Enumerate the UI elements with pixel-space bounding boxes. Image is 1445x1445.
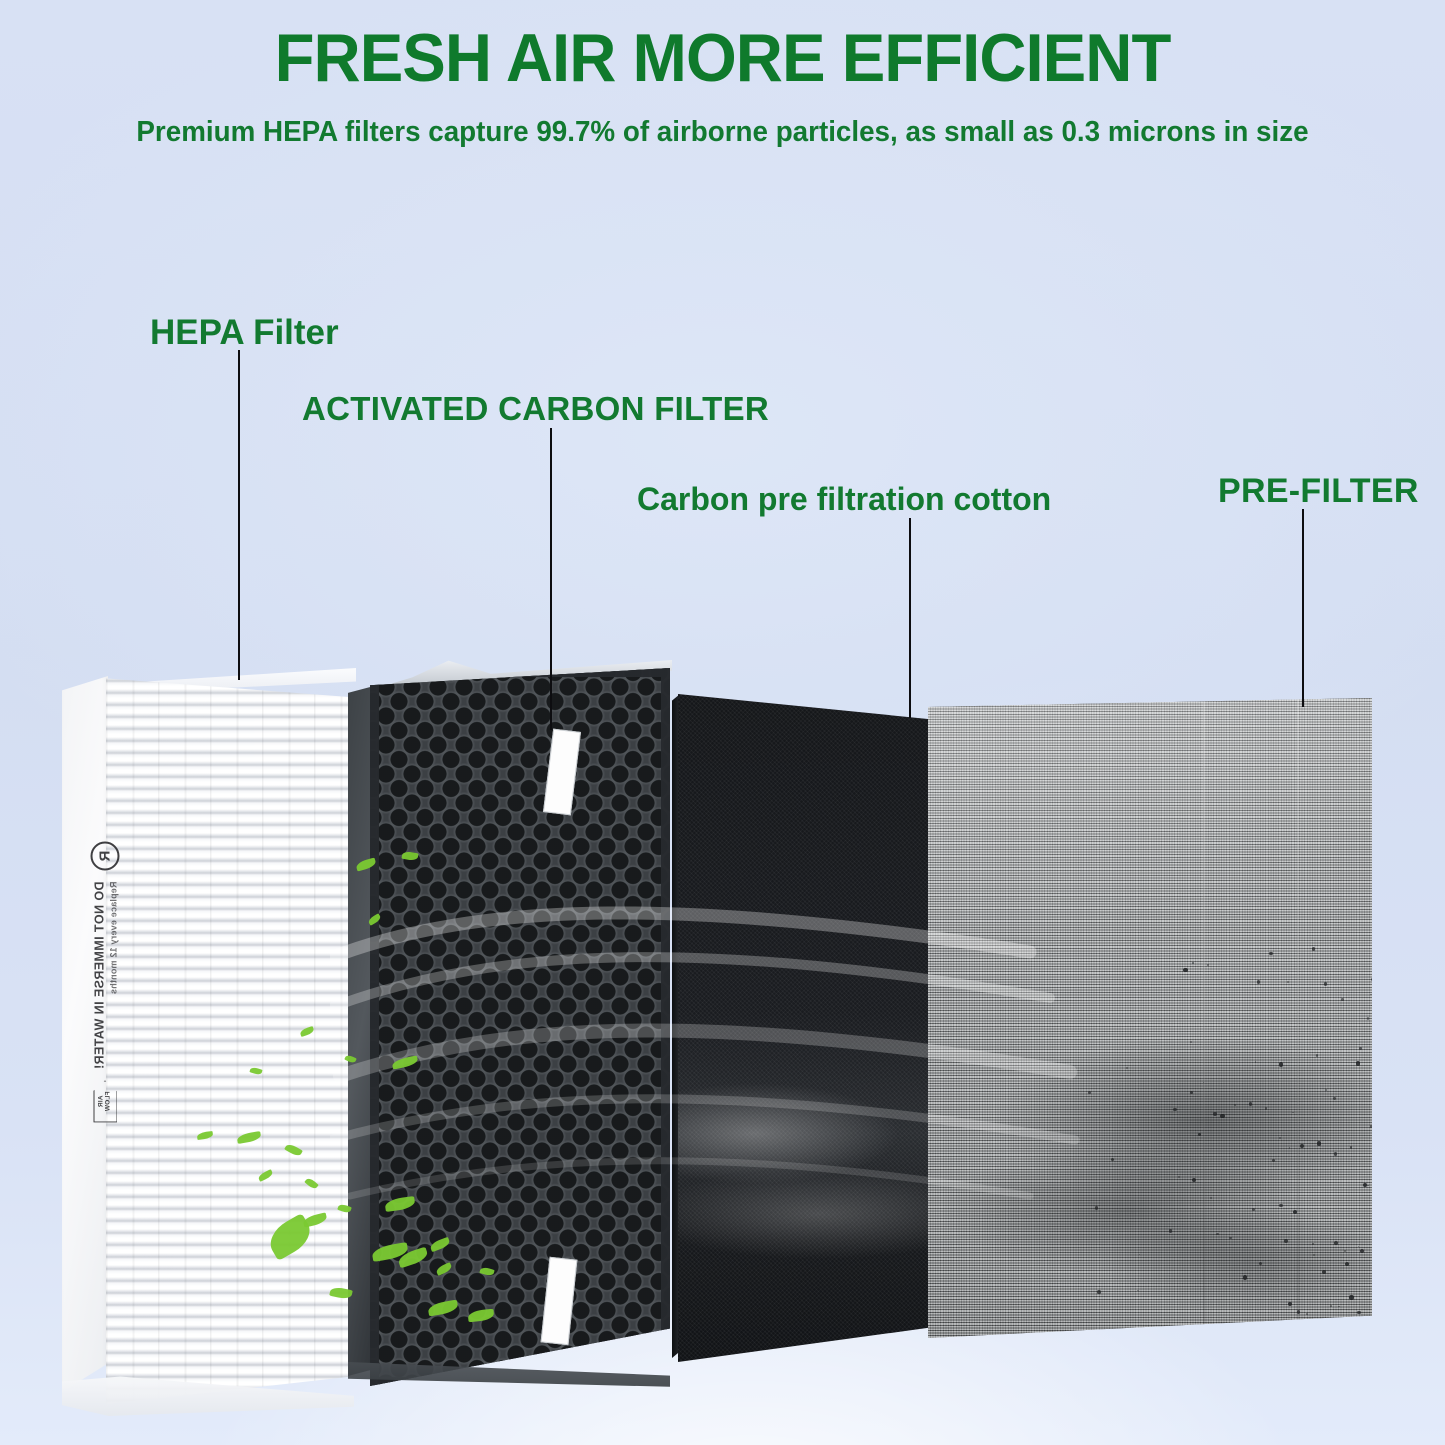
prefilter-mesh-face: [928, 698, 1372, 1338]
callout-label-prefilter: PRE-FILTER: [1218, 474, 1419, 508]
leader-line-cotton: [909, 518, 911, 718]
infographic-canvas: FRESH AIR MORE EFFICIENT Premium HEPA fi…: [0, 0, 1445, 1445]
leader-line-hepa: [238, 350, 240, 680]
cotton-sheet-face: [678, 690, 934, 1362]
leader-line-carbon: [550, 428, 552, 730]
callout-label-hepa: HEPA Filter: [150, 315, 339, 350]
layer-pre-filter: [928, 698, 1372, 1344]
prefilter-fold-line-1: [1203, 698, 1205, 1338]
replace-interval-text: Replace every 12 months: [108, 882, 118, 995]
airflow-label-line2: FLOW: [104, 1091, 111, 1111]
carbon-honeycomb-media: [370, 668, 670, 1386]
do-not-immerse-text: DO NOT IMMERSE IN WATER!: [92, 882, 106, 1070]
layer-activated-carbon-filter: [348, 668, 670, 1392]
airflow-arrow-icon: AIR FLOW: [93, 1080, 117, 1122]
layer-carbon-pre-filtration-cotton: [678, 690, 934, 1370]
prefilter-shading: [928, 698, 1372, 1338]
page-title: FRESH AIR MORE EFFICIENT: [29, 24, 1416, 92]
carbon-inner-frame: [370, 668, 670, 1386]
prefilter-fold-line-2: [1297, 698, 1299, 1338]
leader-line-prefilter: [1302, 509, 1304, 707]
hepa-pleated-media: [106, 674, 354, 1404]
callout-label-cotton: Carbon pre filtration cotton: [637, 483, 1051, 515]
callout-label-carbon: ACTIVATED CARBON FILTER: [302, 392, 769, 425]
hepa-printed-warning: R DO NOT IMMERSE IN WATER! Replace every…: [91, 842, 120, 1172]
layer-hepa-filter: R DO NOT IMMERSE IN WATER! Replace every…: [62, 674, 354, 1408]
certification-badge-icon: R: [91, 842, 120, 871]
page-subtitle: Premium HEPA filters capture 99.7% of ai…: [18, 118, 1427, 147]
